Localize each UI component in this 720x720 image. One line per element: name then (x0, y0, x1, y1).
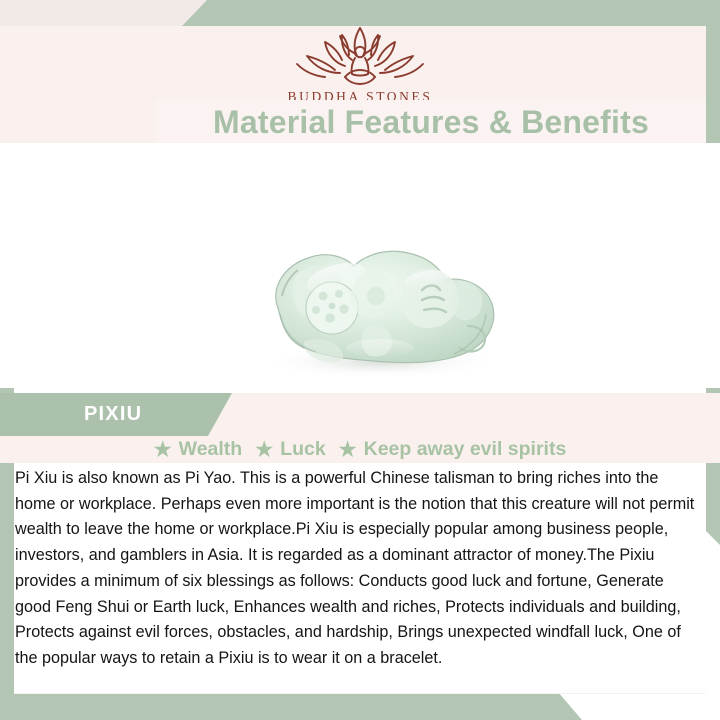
pixiu-banner-label: PIXIU (84, 403, 142, 426)
description-text: Pi Xiu is also known as Pi Yao. This is … (15, 466, 702, 672)
pixiu-banner: PIXIU (0, 393, 232, 436)
benefit-label: Luck (280, 438, 326, 461)
lotus-meditation-figure-icon (285, 22, 435, 88)
page-title: Material Features & Benefits (213, 104, 649, 141)
benefit-item-evil-spirits: ★ Keep away evil spirits (339, 438, 567, 461)
brand-logo: BUDDHA STONES (0, 22, 720, 105)
benefits-row: ★ Wealth ★ Luck ★ Keep away evil spirits (0, 436, 720, 463)
star-icon: ★ (339, 440, 357, 460)
page-title-band: Material Features & Benefits (156, 100, 706, 144)
decor-bottom-green-band (0, 692, 720, 720)
benefit-item-wealth: ★ Wealth (154, 438, 243, 461)
star-icon: ★ (255, 440, 273, 460)
star-icon: ★ (154, 440, 172, 460)
pixiu-banner-row: PIXIU (0, 393, 720, 436)
description-panel: Pi Xiu is also known as Pi Yao. This is … (14, 463, 706, 693)
benefit-label: Keep away evil spirits (364, 438, 567, 461)
benefit-item-luck: ★ Luck (255, 438, 325, 461)
benefit-label: Wealth (179, 438, 243, 461)
pixiu-jade-carving-image (240, 230, 520, 380)
